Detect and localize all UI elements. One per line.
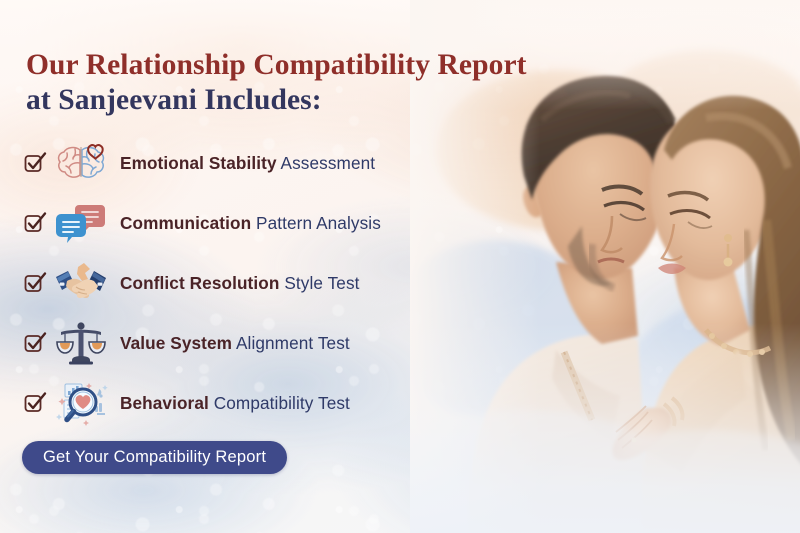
checkbox-checked-icon bbox=[22, 210, 48, 236]
list-item-label-primary: Emotional Stability bbox=[120, 153, 277, 173]
compatibility-report-banner: Our Relationship Compatibility Report at… bbox=[0, 0, 800, 533]
page-title-line-2: at Sanjeevani Includes: bbox=[26, 83, 546, 118]
list-item-label-secondary: Assessment bbox=[277, 153, 376, 173]
list-item-label-secondary: Alignment Test bbox=[232, 333, 350, 353]
speech-bubbles-icon bbox=[52, 200, 110, 246]
list-item-label: Conflict Resolution Style Test bbox=[120, 273, 360, 294]
list-item-label: Value System Alignment Test bbox=[120, 333, 350, 354]
list-item: Value System Alignment Test bbox=[22, 318, 452, 368]
list-item-label-secondary: Pattern Analysis bbox=[251, 213, 381, 233]
list-item-label-primary: Value System bbox=[120, 333, 232, 353]
list-item-label-secondary: Compatibility Test bbox=[209, 393, 350, 413]
list-item-label: Emotional Stability Assessment bbox=[120, 153, 375, 174]
list-item: Conflict Resolution Style Test bbox=[22, 258, 452, 308]
list-item-label-primary: Communication bbox=[120, 213, 251, 233]
list-item-label: Behavioral Compatibility Test bbox=[120, 393, 350, 414]
checkbox-checked-icon bbox=[22, 150, 48, 176]
checkbox-checked-icon bbox=[22, 270, 48, 296]
magnifier-heart-icon bbox=[52, 380, 110, 426]
checkbox-checked-icon bbox=[22, 390, 48, 416]
list-item-label-primary: Conflict Resolution bbox=[120, 273, 279, 293]
list-item: Emotional Stability Assessment bbox=[22, 138, 452, 188]
page-title: Our Relationship Compatibility Report at… bbox=[26, 48, 546, 118]
list-item: Communication Pattern Analysis bbox=[22, 198, 452, 248]
balance-scales-icon bbox=[52, 320, 110, 366]
brain-heart-icon bbox=[52, 140, 110, 186]
list-item-label: Communication Pattern Analysis bbox=[120, 213, 381, 234]
list-item: Behavioral Compatibility Test bbox=[22, 378, 452, 428]
page-title-line-1: Our Relationship Compatibility Report bbox=[26, 48, 546, 83]
list-item-label-secondary: Style Test bbox=[279, 273, 359, 293]
get-compatibility-report-button[interactable]: Get Your Compatibility Report bbox=[22, 441, 287, 474]
checkbox-checked-icon bbox=[22, 330, 48, 356]
handshake-icon bbox=[52, 260, 110, 306]
banner-content: Our Relationship Compatibility Report at… bbox=[0, 0, 800, 533]
list-item-label-primary: Behavioral bbox=[120, 393, 209, 413]
feature-list: Emotional Stability Assessment bbox=[22, 138, 452, 438]
